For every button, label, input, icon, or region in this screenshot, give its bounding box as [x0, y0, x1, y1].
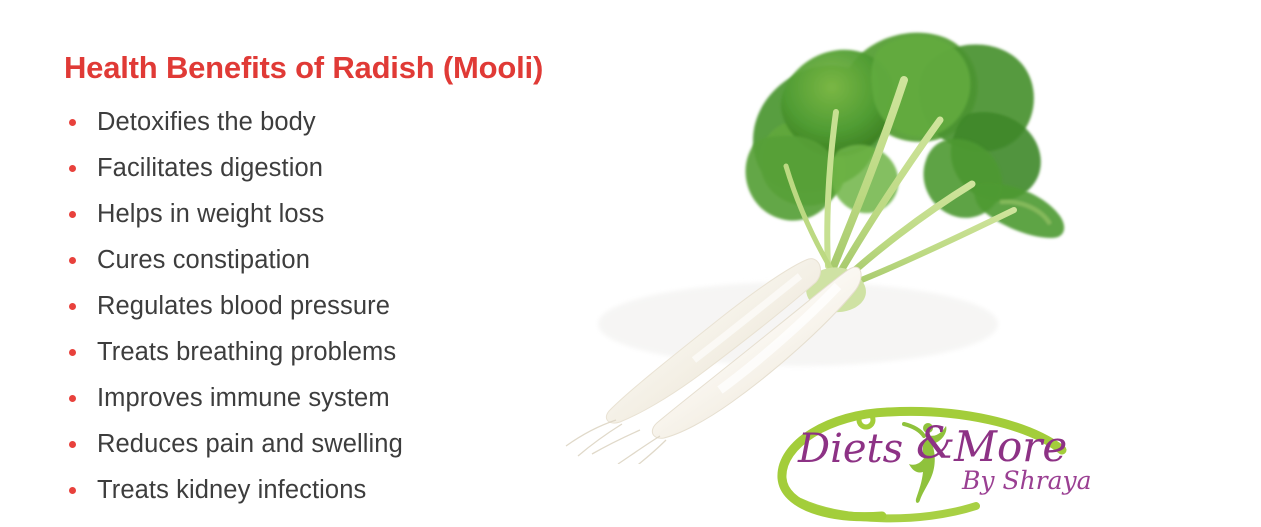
bullet-icon [69, 165, 76, 172]
radish-photo [548, 0, 1068, 464]
logo-word-more: More [954, 422, 1067, 471]
benefits-list: Detoxifies the body Facilitates digestio… [64, 99, 403, 513]
list-item: Treats kidney infections [64, 467, 403, 513]
radish-crown [806, 267, 866, 312]
bullet-icon [69, 211, 76, 218]
bullet-icon [69, 349, 76, 356]
bullet-icon [69, 487, 76, 494]
benefit-label: Reduces pain and swelling [97, 430, 403, 458]
list-item: Helps in weight loss [64, 191, 403, 237]
page-title: Health Benefits of Radish (Mooli) [64, 50, 543, 86]
benefit-label: Detoxifies the body [97, 108, 316, 136]
benefit-label: Cures constipation [97, 246, 310, 274]
bullet-icon [69, 257, 76, 264]
list-item: Regulates blood pressure [64, 283, 403, 329]
radish-leaves-back [753, 33, 1041, 206]
logo-word-diets: Diets [798, 426, 903, 472]
radish-leaves-front [746, 36, 1065, 238]
benefit-label: Helps in weight loss [97, 200, 324, 228]
bullet-icon [69, 119, 76, 126]
list-item: Facilitates digestion [64, 145, 403, 191]
bullet-icon [69, 395, 76, 402]
bullet-icon [69, 303, 76, 310]
list-item: Improves immune system [64, 375, 403, 421]
bullet-icon [69, 441, 76, 448]
list-item: Reduces pain and swelling [64, 421, 403, 467]
benefit-label: Regulates blood pressure [97, 292, 390, 320]
benefit-label: Improves immune system [97, 384, 390, 412]
list-item: Treats breathing problems [64, 329, 403, 375]
poster-canvas: Health Benefits of Radish (Mooli) Detoxi… [0, 0, 1261, 527]
benefit-label: Facilitates digestion [97, 154, 323, 182]
benefit-label: Treats kidney infections [97, 476, 366, 504]
logo-tagline: By Shraya [962, 466, 1092, 495]
logo-ampersand: & [916, 418, 955, 469]
benefit-label: Treats breathing problems [97, 338, 396, 366]
list-item: Cures constipation [64, 237, 403, 283]
list-item: Detoxifies the body [64, 99, 403, 145]
radish-stems [786, 80, 1014, 286]
brand-logo[interactable]: Diets & More By Shraya [770, 398, 1110, 526]
